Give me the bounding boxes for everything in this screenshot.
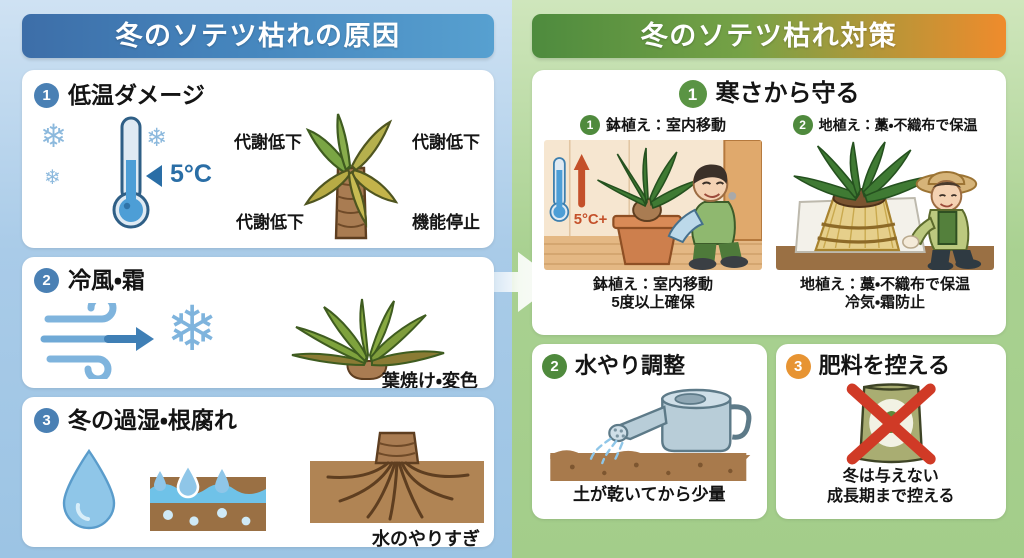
causes-header-title: 冬のソテツ枯れの原因 (116, 23, 401, 50)
cause-card-3: 3 冬の過湿・根腐れ (22, 397, 494, 547)
countermeasures-header-title: 冬のソテツ枯れ対策 (641, 23, 898, 50)
measure-2-caption: 土が乾いてから少量 (542, 485, 757, 505)
cause-2-heading: 2 冷風・霜 (34, 263, 480, 297)
subitem-2-title: 地植え：藁・不織布で保温 (819, 118, 978, 132)
root-rot-illustration: 水のやりすぎ (284, 437, 480, 545)
measure-1-title: 寒さから守る (716, 82, 860, 106)
low-temperature-illustration: ❄ ❄ ❄ 5° (34, 112, 230, 242)
infographic-poster: 冬のソテツ枯れの原因 1 低温ダメージ ❄ ❄ ❄ (0, 0, 1024, 558)
cause-3-caption: 水のやりすぎ (372, 525, 480, 547)
measure-3-title: 肥料を控える (819, 355, 950, 377)
measure-card-3: 3 肥料を控える (776, 344, 1006, 519)
measure-3-number-badge: 3 (786, 354, 811, 379)
causes-panel-header: 冬のソテツ枯れの原因 (22, 14, 494, 58)
subitem-2-caption-line2: 冷気・霜防止 (800, 294, 970, 312)
cause-3-body: 水のやりすぎ (34, 437, 480, 545)
countermeasures-card-list: 1 寒さから守る 1 鉢植え：室内移動 (532, 70, 1006, 519)
subitem-1-number-badge: 1 (580, 115, 600, 135)
cause-1-heading: 1 低温ダメージ (34, 78, 480, 112)
waterlogged-soil-icon (150, 459, 266, 531)
measure-3-caption-line1: 冬は与えない (786, 467, 996, 487)
wind-icon (40, 303, 160, 379)
svg-text:5°C+: 5°C+ (574, 211, 608, 228)
subitem-2-caption: 地植え：藁・不織布で保温 冷気・霜防止 (800, 276, 970, 313)
cause-1-label-top-right: 代謝低下 (412, 128, 480, 153)
root-rot-icon (302, 431, 492, 531)
subitem-2-heading: 2 地植え：藁・不織布で保温 (793, 114, 978, 136)
measure-2-heading: 2 水やり調整 (542, 351, 757, 381)
subitem-1-caption: 鉢植え：室内移動 5度以上確保 (593, 276, 713, 313)
watering-can-icon (542, 381, 757, 485)
measure-bottom-row: 2 水やり調整 (532, 344, 1006, 519)
overwatering-illustration (34, 437, 284, 545)
countermeasures-panel-header: 冬のソテツ枯れ対策 (532, 14, 1006, 58)
cause-card-2: 2 冷風・霜 ❄ (22, 257, 494, 388)
cause-2-number-badge: 2 (34, 268, 59, 293)
fertilizer-bag-crossed-icon (786, 381, 996, 467)
subitem-1-heading: 1 鉢植え：室内移動 (580, 114, 726, 136)
measure-card-2: 2 水やり調整 (532, 344, 767, 519)
measure-1-subitem-2: 2 地植え：藁・不織布で保温 (776, 114, 994, 313)
indoor-move-illustration: 5°C+ (544, 140, 762, 270)
measure-card-1: 1 寒さから守る 1 鉢植え：室内移動 (532, 70, 1006, 335)
measure-1-heading: 1 寒さから守る (544, 78, 994, 110)
cause-2-body: ❄ (34, 297, 480, 388)
measure-3-caption-line2: 成長期まで控える (786, 487, 996, 507)
cause-1-title: 低温ダメージ (68, 84, 205, 107)
no-fertilizer-illustration (786, 381, 996, 467)
subitem-1-title: 鉢植え：室内移動 (606, 118, 726, 133)
measure-3-heading: 3 肥料を控える (786, 351, 996, 381)
cause-2-title: 冷風・霜 (68, 269, 145, 292)
water-drop-icon (58, 447, 120, 533)
cause-2-caption: 葉焼け・変色 (382, 367, 478, 388)
cycad-damage-diagram: 代謝低下 代謝低下 代謝低下 機能停止 (230, 112, 480, 244)
subitem-1-caption-line2: 5度以上確保 (593, 294, 713, 312)
causes-panel: 冬のソテツ枯れの原因 1 低温ダメージ ❄ ❄ ❄ (0, 0, 512, 558)
subitem-2-caption-line1: 地植え：藁・不織布で保温 (800, 276, 970, 294)
countermeasures-panel: 冬のソテツ枯れ対策 1 寒さから守る 1 鉢植え：室内移動 (512, 0, 1024, 558)
cause-1-label-bottom-right: 機能停止 (412, 208, 480, 233)
measure-1-number-badge: 1 (679, 80, 707, 108)
measure-2-title: 水やり調整 (575, 355, 685, 377)
measure-1-subitems: 1 鉢植え：室内移動 (544, 114, 994, 313)
snowflake-icon: ❄ (44, 168, 61, 188)
leaf-scorch-illustration: 葉焼け・変色 (230, 297, 480, 388)
measure-1-subitem-1: 1 鉢植え：室内移動 (544, 114, 762, 313)
cause-3-title: 冬の過湿・根腐れ (68, 409, 237, 432)
measure-3-caption: 冬は与えない 成長期まで控える (786, 467, 996, 506)
temperature-label: 5°C (170, 160, 212, 189)
cause-1-body: ❄ ❄ ❄ 5° (34, 112, 480, 244)
cause-card-1: 1 低温ダメージ ❄ ❄ ❄ (22, 70, 494, 248)
cause-3-number-badge: 3 (34, 408, 59, 433)
subitem-2-number-badge: 2 (793, 115, 813, 135)
snowflake-icon: ❄ (40, 120, 67, 152)
left-caret-icon (146, 165, 162, 187)
cause-1-number-badge: 1 (34, 83, 59, 108)
causes-card-list: 1 低温ダメージ ❄ ❄ ❄ (22, 70, 494, 547)
straw-wrap-illustration (776, 140, 994, 270)
watering-illustration (542, 381, 757, 485)
cold-wind-frost-illustration: ❄ (34, 297, 230, 388)
snowflake-icon: ❄ (166, 299, 218, 361)
subitem-1-caption-line1: 鉢植え：室内移動 (593, 276, 713, 294)
measure-2-number-badge: 2 (542, 354, 567, 379)
